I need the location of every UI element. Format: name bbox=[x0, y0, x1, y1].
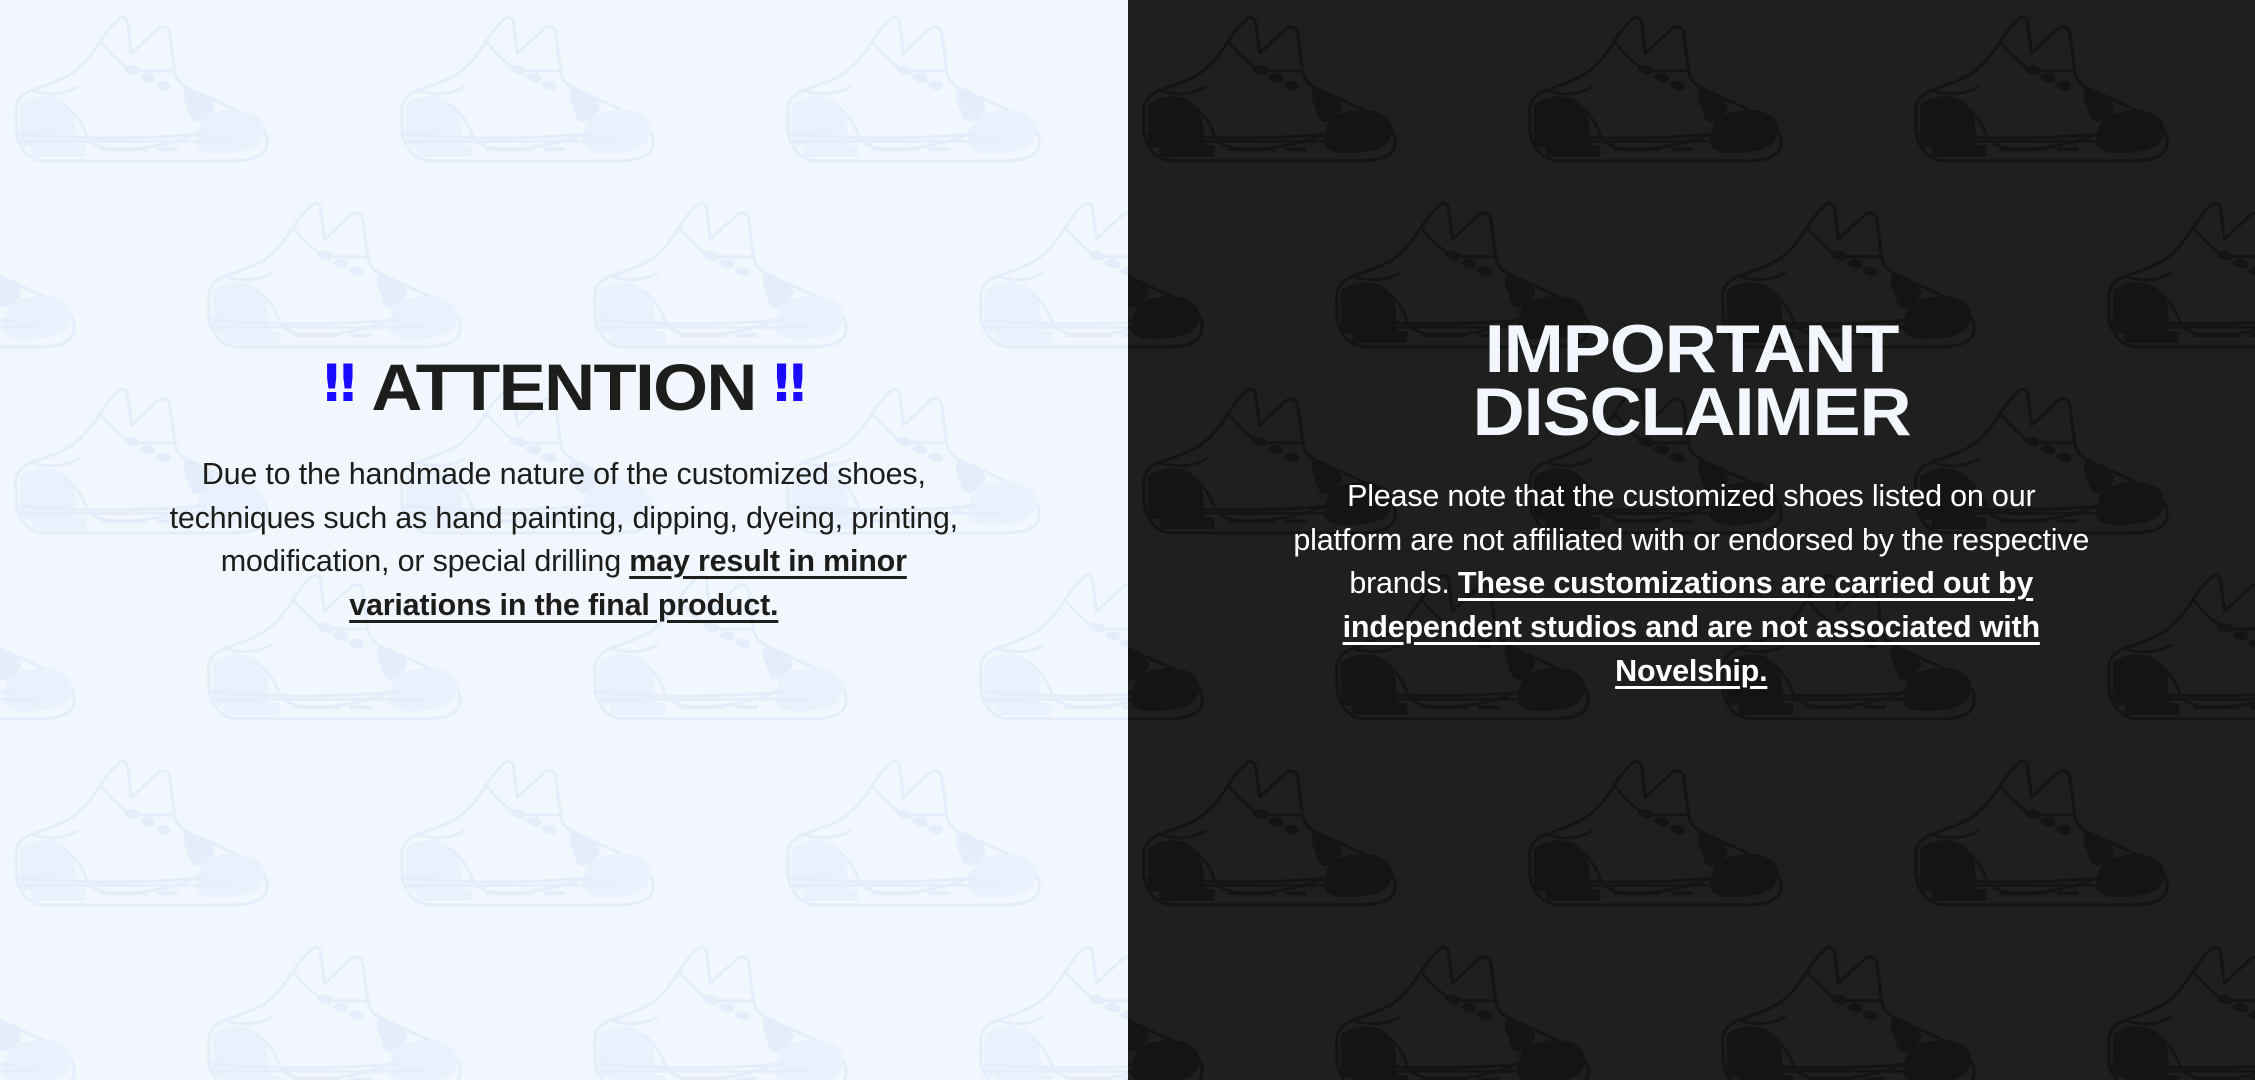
disclaimer-content: IMPORTANT DISCLAIMER Please note that th… bbox=[1128, 0, 2255, 693]
double-exclamation-icon-right: ‼ bbox=[773, 358, 804, 410]
disclaimer-heading-line2: DISCLAIMER bbox=[1472, 381, 1910, 444]
page-root: ‼ ATTENTION ‼ Due to the handmade nature… bbox=[0, 0, 2255, 1080]
disclaimer-heading-line1: IMPORTANT bbox=[1472, 318, 1910, 381]
double-exclamation-icon-left: ‼ bbox=[324, 358, 355, 410]
attention-body: Due to the handmade nature of the custom… bbox=[164, 453, 964, 627]
disclaimer-panel: IMPORTANT DISCLAIMER Please note that th… bbox=[1128, 0, 2255, 1080]
attention-heading: ‼ ATTENTION ‼ bbox=[324, 354, 804, 420]
attention-panel: ‼ ATTENTION ‼ Due to the handmade nature… bbox=[0, 0, 1128, 1080]
disclaimer-heading: IMPORTANT DISCLAIMER bbox=[1472, 318, 1910, 443]
attention-heading-text: ATTENTION bbox=[372, 354, 756, 420]
disclaimer-body: Please note that the customized shoes li… bbox=[1291, 475, 2091, 693]
attention-content: ‼ ATTENTION ‼ Due to the handmade nature… bbox=[0, 0, 1128, 627]
